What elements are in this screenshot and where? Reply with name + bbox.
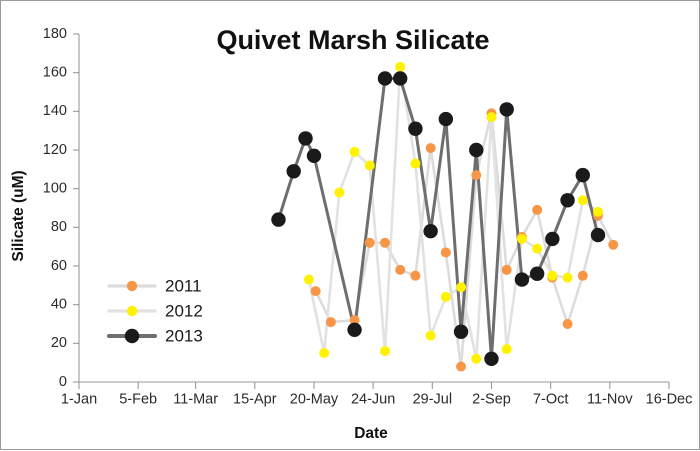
data-point-2011-6 — [410, 271, 420, 281]
y-tick-label-80: 80 — [51, 219, 67, 235]
data-point-2012-1 — [319, 348, 329, 358]
data-point-2013-10 — [454, 325, 468, 339]
x-tick-label-7: 2-Sep — [472, 392, 511, 408]
x-axis: 1-Jan5-Feb11-Mar15-Apr20-May24-Jun29-Jul… — [61, 382, 693, 408]
x-tick-label-0: 1-Jan — [61, 392, 97, 408]
legend-marker-2012 — [127, 306, 137, 316]
data-point-2012-13 — [502, 344, 512, 354]
legend-marker-2013 — [125, 329, 139, 343]
data-point-2011-7 — [426, 143, 436, 153]
chart-container: Quivet Marsh Silicate Silicate (uM) Date… — [0, 0, 700, 450]
y-tick-label-40: 40 — [51, 296, 67, 312]
data-point-2011-12 — [502, 265, 512, 275]
y-tick-label-140: 140 — [43, 103, 67, 119]
y-axis-title: Silicate (uM) — [10, 170, 27, 261]
data-point-2011-0 — [311, 286, 321, 296]
data-point-2013-0 — [271, 212, 285, 226]
data-point-2012-7 — [410, 159, 420, 169]
y-tick-label-160: 160 — [43, 64, 67, 80]
chart-legend: 201120122013 — [109, 276, 203, 345]
x-tick-label-4: 20-May — [290, 392, 339, 408]
data-point-2013-15 — [530, 267, 544, 281]
data-point-2012-0 — [304, 275, 314, 285]
series-markers-group — [271, 62, 618, 372]
data-point-2012-8 — [426, 331, 436, 341]
data-point-2013-7 — [408, 122, 422, 136]
data-point-2011-9 — [456, 362, 466, 372]
data-point-2013-9 — [439, 112, 453, 126]
data-point-2012-17 — [563, 273, 573, 283]
data-point-2013-3 — [307, 149, 321, 163]
legend-label-2012: 2012 — [165, 301, 203, 320]
data-point-2013-18 — [576, 168, 590, 182]
data-point-2012-6 — [395, 62, 405, 72]
data-point-2013-6 — [393, 71, 407, 85]
data-point-2012-5 — [380, 346, 390, 356]
data-point-2013-8 — [423, 224, 437, 238]
legend-label-2011: 2011 — [165, 276, 202, 295]
data-point-2013-1 — [287, 164, 301, 178]
data-point-2011-8 — [441, 247, 451, 257]
x-tick-label-1: 5-Feb — [119, 392, 157, 408]
x-tick-label-6: 29-Jul — [413, 392, 453, 408]
data-point-2013-19 — [591, 228, 605, 242]
data-point-2012-12 — [486, 112, 496, 122]
x-tick-label-9: 11-Nov — [587, 392, 633, 408]
data-point-2012-2 — [334, 188, 344, 198]
data-point-2011-16 — [563, 319, 573, 329]
x-axis-title: Date — [354, 425, 388, 442]
y-tick-label-60: 60 — [51, 258, 67, 274]
data-point-2013-4 — [347, 323, 361, 337]
y-tick-label-0: 0 — [59, 374, 67, 390]
data-point-2013-5 — [378, 71, 392, 85]
data-point-2013-2 — [298, 131, 312, 145]
data-point-2012-11 — [471, 354, 481, 364]
y-tick-label-100: 100 — [43, 180, 67, 196]
legend-label-2013: 2013 — [165, 326, 203, 345]
data-point-2012-16 — [547, 271, 557, 281]
data-point-2011-10 — [471, 170, 481, 180]
chart-title: Quivet Marsh Silicate — [216, 25, 489, 55]
data-point-2012-19 — [593, 207, 603, 217]
x-tick-label-2: 11-Mar — [173, 392, 218, 408]
series-markers-2013 — [271, 71, 605, 366]
data-point-2013-13 — [500, 102, 514, 116]
data-point-2011-3 — [365, 238, 375, 248]
data-point-2012-10 — [456, 282, 466, 292]
data-point-2011-4 — [380, 238, 390, 248]
x-tick-label-3: 15-Apr — [233, 392, 277, 408]
x-tick-label-5: 24-Jun — [351, 392, 395, 408]
data-point-2012-3 — [350, 147, 360, 157]
data-point-2011-17 — [578, 271, 588, 281]
data-point-2013-16 — [545, 232, 559, 246]
data-point-2012-15 — [532, 244, 542, 254]
x-tick-label-8: 7-Oct — [533, 392, 568, 408]
y-tick-label-20: 20 — [51, 335, 67, 351]
data-point-2011-14 — [532, 205, 542, 215]
data-point-2012-18 — [578, 195, 588, 205]
x-tick-label-10: 16-Dec — [646, 392, 693, 408]
silicate-line-chart: Quivet Marsh Silicate Silicate (uM) Date… — [1, 1, 700, 451]
data-point-2011-19 — [608, 240, 618, 250]
data-point-2013-17 — [560, 193, 574, 207]
data-point-2013-11 — [469, 143, 483, 157]
y-axis: 020406080100120140160180 — [43, 26, 79, 390]
data-point-2012-14 — [517, 234, 527, 244]
data-point-2013-14 — [515, 272, 529, 286]
data-point-2012-9 — [441, 292, 451, 302]
y-tick-label-180: 180 — [43, 26, 67, 42]
legend-marker-2011 — [127, 281, 137, 291]
data-point-2013-12 — [484, 352, 498, 366]
data-point-2012-4 — [365, 160, 375, 170]
data-point-2011-5 — [395, 265, 405, 275]
y-tick-label-120: 120 — [43, 142, 67, 158]
data-point-2011-1 — [326, 317, 336, 327]
